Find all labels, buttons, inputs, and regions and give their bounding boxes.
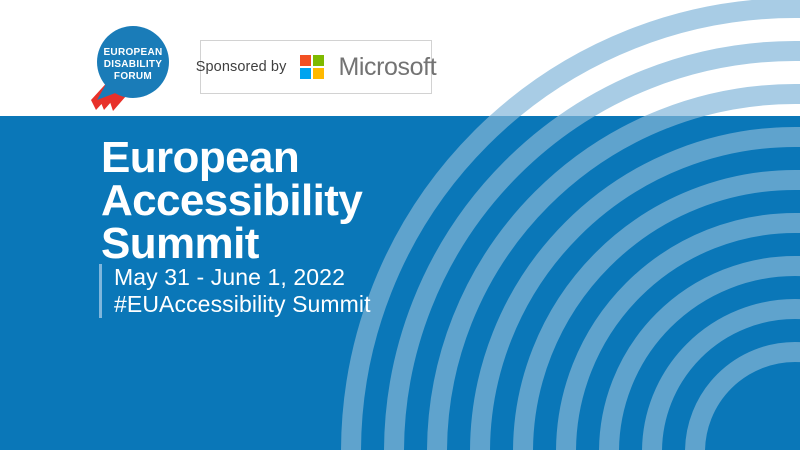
event-dates: May 31 - June 1, 2022: [114, 264, 371, 291]
microsoft-wordmark: Microsoft: [338, 53, 436, 82]
event-banner: EUROPEAN DISABILITY FORUM Sponsored by M…: [0, 0, 800, 450]
title-line-1: European: [101, 136, 561, 179]
title-line-2: Accessibility: [101, 179, 561, 222]
title-line-3: Summit: [101, 222, 561, 265]
sponsor-box: Sponsored by Microsoft: [200, 40, 432, 94]
edf-logo-line1: EUROPEAN: [103, 47, 162, 58]
microsoft-logo-icon: [300, 55, 324, 79]
edf-logo-line2: DISABILITY: [104, 59, 163, 70]
event-details: May 31 - June 1, 2022 #EUAccessibility S…: [99, 264, 371, 318]
edf-logo-line3: FORUM: [114, 71, 152, 82]
sponsored-by-label: Sponsored by: [196, 59, 287, 75]
event-hashtag: #EUAccessibility Summit: [114, 291, 371, 318]
page-title: European Accessibility Summit: [101, 136, 561, 265]
edf-logo: EUROPEAN DISABILITY FORUM: [88, 22, 174, 112]
